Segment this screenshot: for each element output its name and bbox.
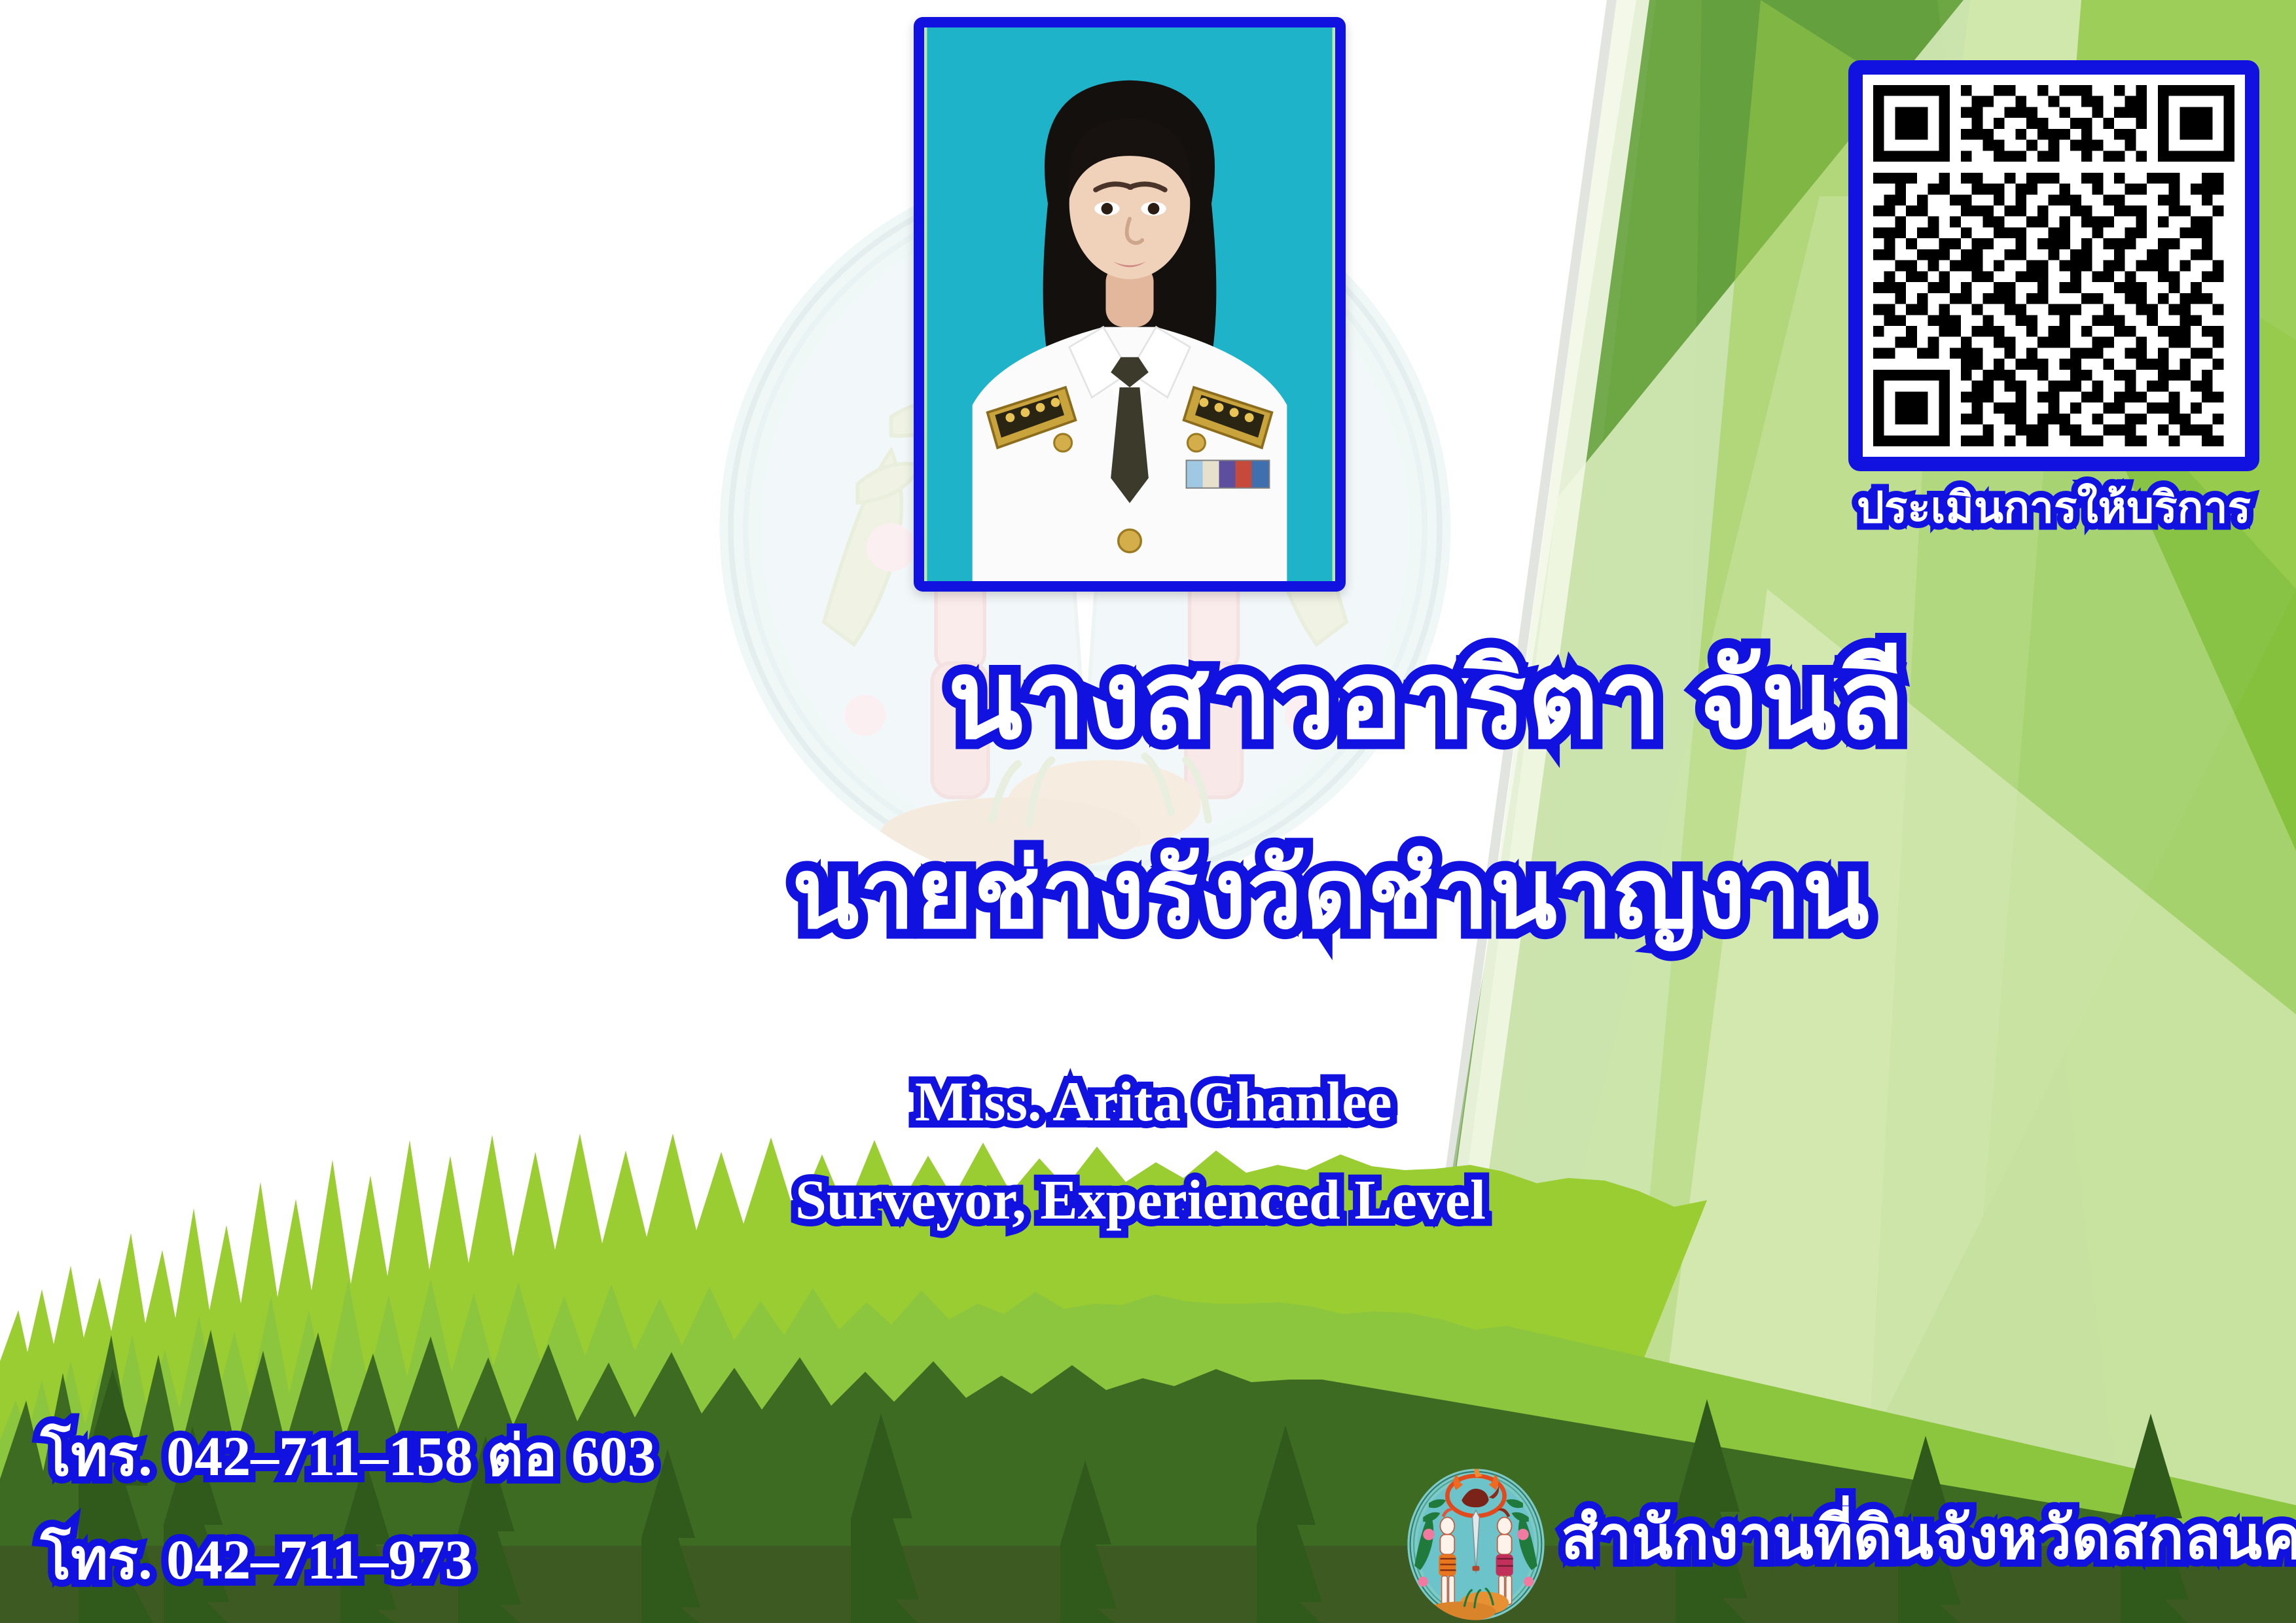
provincial-seal-icon — [1404, 1466, 1548, 1623]
phone-line-2[interactable]: โทร. 042–711–973 — [41, 1531, 473, 1588]
office-name: สำนักงานที่ดินจังหวัดสกลนคร — [1561, 1508, 2296, 1568]
qr-code-image[interactable] — [1863, 75, 2245, 457]
phone-line-1[interactable]: โทร. 042–711–158 ต่อ 603 — [41, 1428, 656, 1484]
name-board-poster: ประเมินการให้บริการ นางสาวอาริตา จันลี น… — [0, 0, 2296, 1623]
person-position-thai: นายช่างรังวัดชำนาญงาน — [792, 844, 1870, 942]
qr-code[interactable] — [1848, 60, 2259, 471]
person-position-english: Surveyor, Experienced Level — [795, 1171, 1486, 1228]
qr-caption: ประเมินการให้บริการ — [1852, 486, 2255, 529]
person-name-english: Miss. Arita Chanlee — [915, 1073, 1392, 1130]
person-name-thai: นางสาวอาริตา จันลี — [948, 645, 1906, 755]
portrait-photo — [914, 17, 1346, 592]
